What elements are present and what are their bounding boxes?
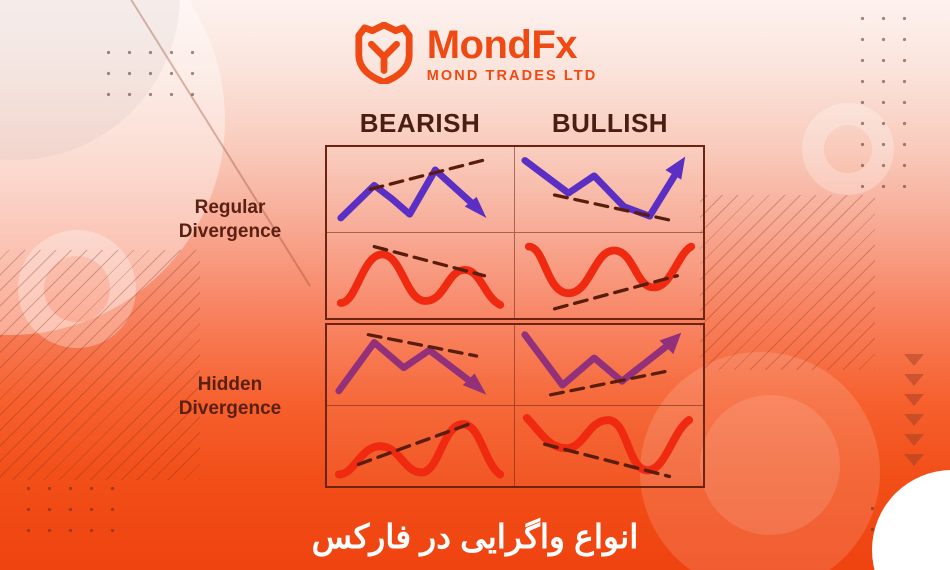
brand-tagline: MOND TRADES LTD: [427, 69, 598, 84]
chart-cell-regular-bearish-price: [327, 147, 515, 233]
row-label-hidden-divergence: Hidden Divergence: [140, 373, 320, 421]
banner-infographic: MondFx MOND TRADES LTD BEARISH BULLISH R…: [0, 0, 950, 570]
row-label-regular-divergence: Regular Divergence: [140, 196, 320, 244]
chart-cell-hidden-bullish-price: [515, 325, 703, 406]
diagonal-hatch-right: [700, 195, 875, 370]
shield-check-icon: [353, 22, 415, 84]
chart-cell-regular-bearish-oscillator: [327, 233, 515, 319]
footer-title: انواع واگرایی در فارکس: [0, 517, 950, 556]
column-header-bearish: BEARISH: [325, 108, 515, 139]
row-label-line2: Divergence: [140, 220, 320, 244]
row-label-line1: Regular: [140, 196, 320, 220]
row-label-line1: Hidden: [140, 373, 320, 397]
chart-cell-regular-bullish-price: [515, 147, 703, 233]
down-triangle-column-icon: [902, 352, 926, 472]
diagonal-hatch-left: [0, 250, 200, 480]
brand-name: MondFx: [427, 25, 598, 65]
column-header-bullish: BULLISH: [515, 108, 705, 139]
chart-cell-hidden-bullish-oscillator: [515, 406, 703, 487]
row-label-line2: Divergence: [140, 397, 320, 421]
chart-cell-hidden-bearish-oscillator: [327, 406, 515, 487]
ring-decor-right: [802, 103, 894, 195]
ring-decor-left: [18, 230, 136, 348]
grid-hidden-divergence: [325, 323, 705, 488]
grid-regular-divergence: [325, 145, 705, 320]
chart-cell-hidden-bearish-price: [327, 325, 515, 406]
brand-logo: MondFx MOND TRADES LTD: [0, 22, 950, 84]
chart-cell-regular-bullish-oscillator: [515, 233, 703, 319]
column-headers: BEARISH BULLISH: [325, 108, 705, 139]
blob-decor-right-inner: [700, 395, 840, 535]
